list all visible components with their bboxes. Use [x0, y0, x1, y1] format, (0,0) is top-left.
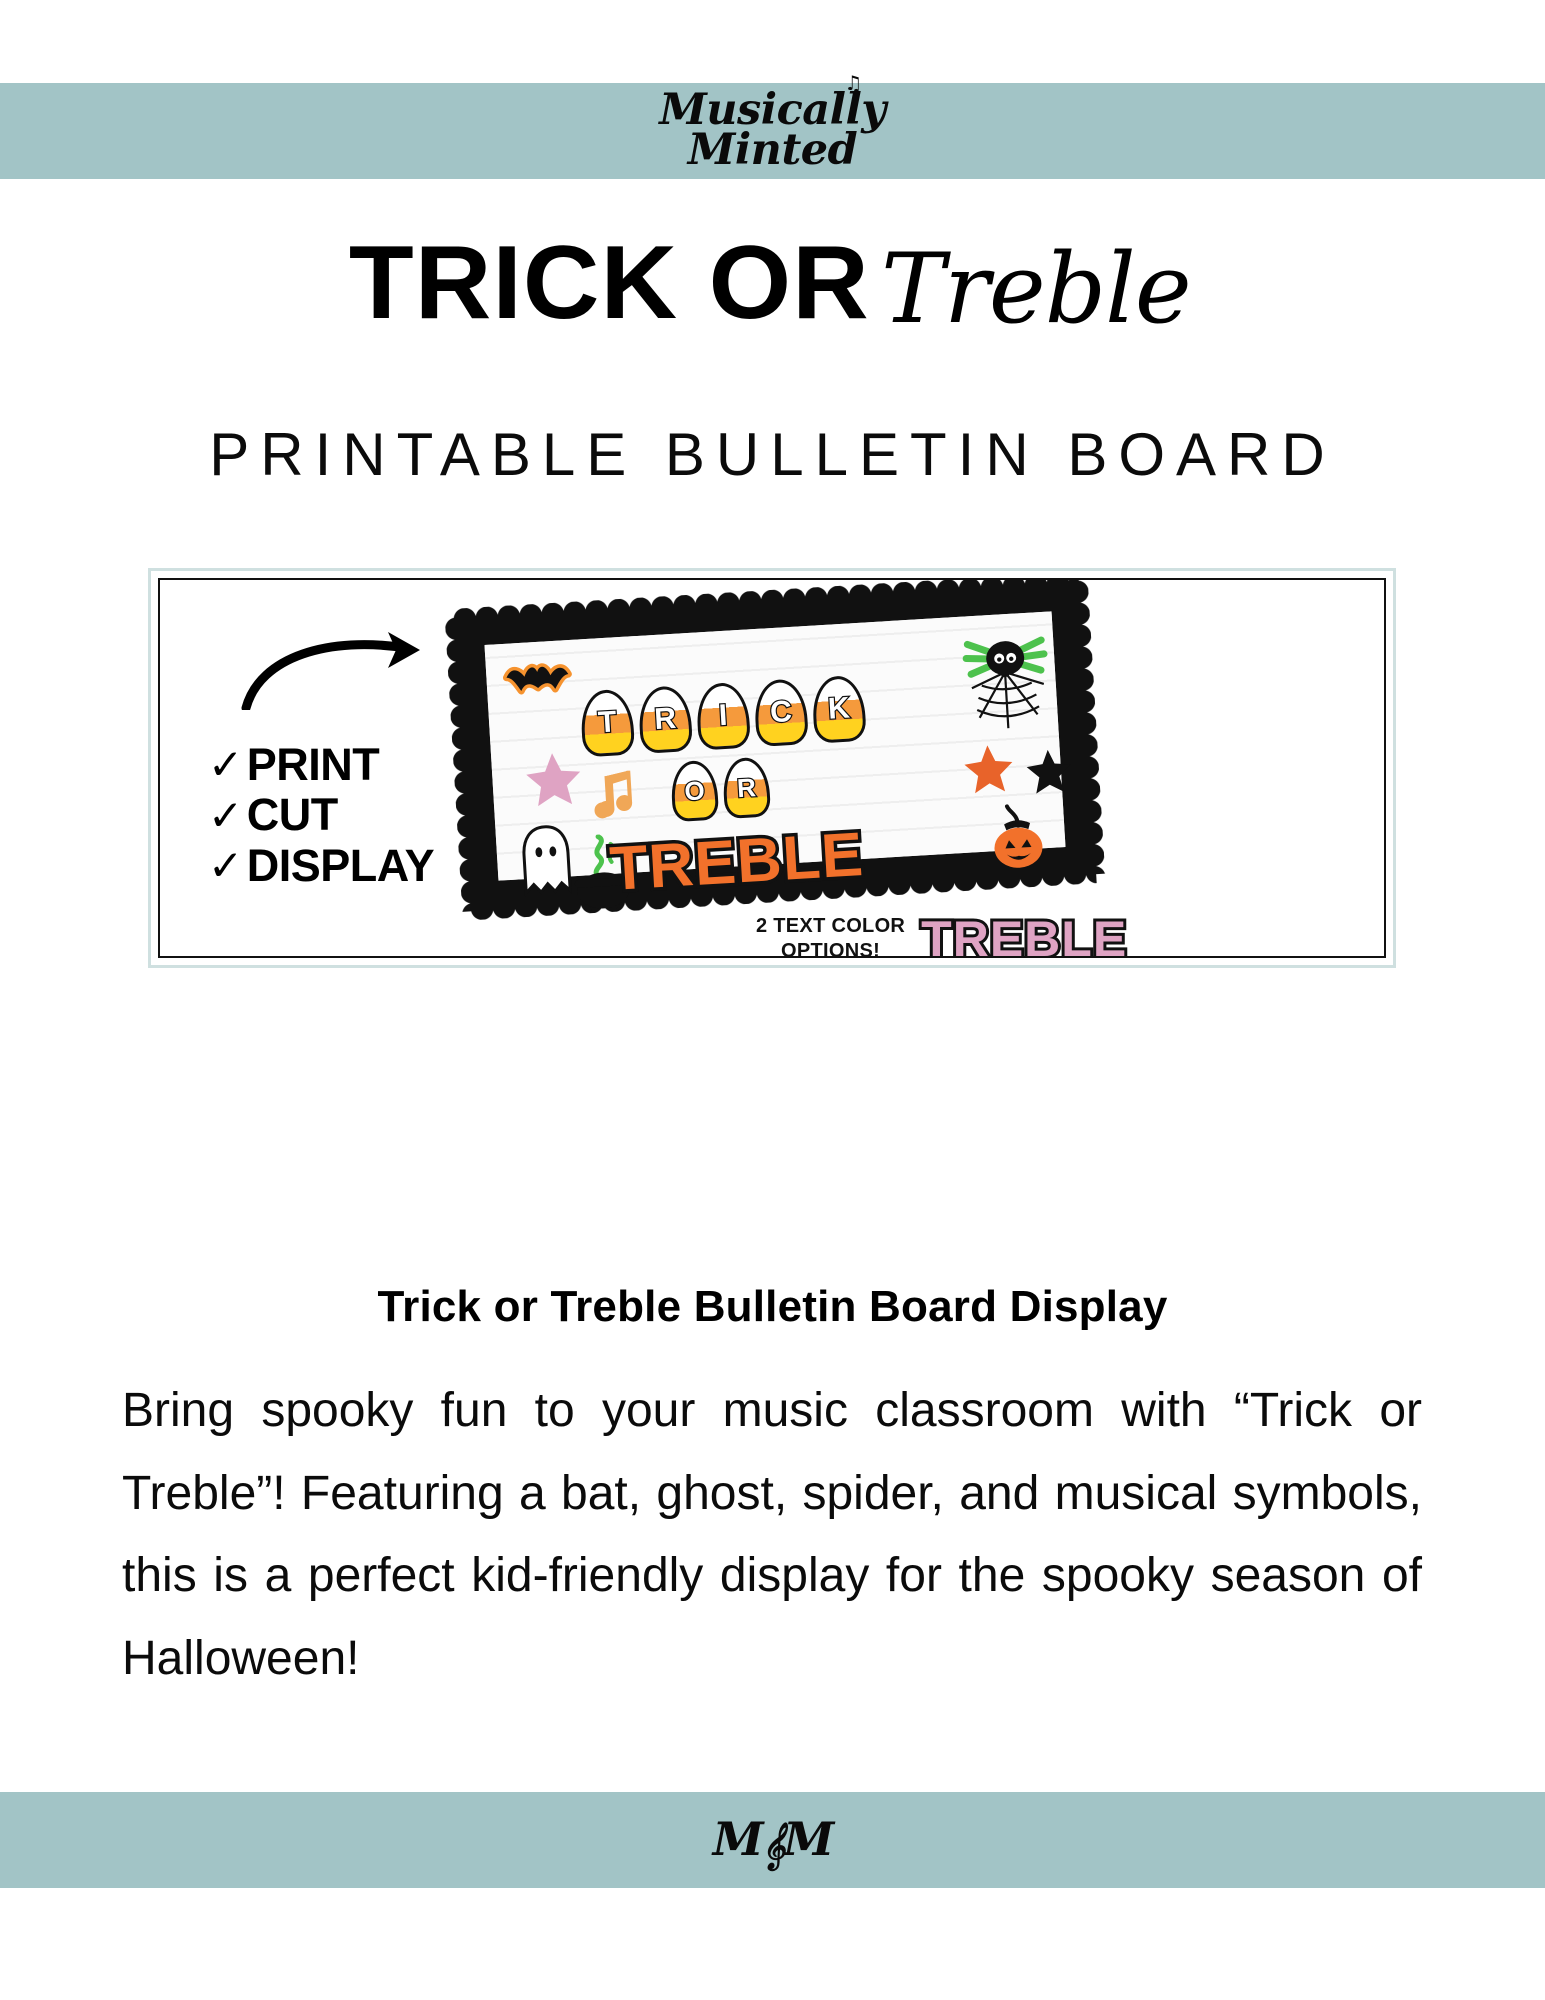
music-note-icon	[588, 768, 637, 826]
board-word-trick: T R I C K	[579, 675, 866, 758]
spider-web-icon	[954, 621, 1057, 741]
candy-corn-letter: O	[670, 760, 719, 823]
brand-logo: Musically ♫ Minted	[659, 91, 886, 170]
color-options-label-line2: OPTIONS!	[756, 939, 905, 958]
color-options-label-line1: 2 TEXT COLOR	[756, 914, 905, 939]
checklist-label-print: PRINT	[247, 740, 380, 790]
list-item: ✓ CUT	[208, 790, 434, 840]
pink-star-icon	[523, 750, 585, 814]
candy-corn-letter: R	[637, 685, 693, 754]
check-icon: ✓	[208, 744, 243, 786]
treble-clef-icon: 𝄞	[762, 1822, 784, 1869]
footer-monogram: M𝄞M	[713, 1812, 832, 1869]
orange-star-icon	[961, 742, 1016, 800]
candy-corn-letter: K	[811, 675, 867, 744]
color-options-label: 2 TEXT COLOR OPTIONS!	[756, 914, 905, 958]
page-title: TRICK OR Treble	[0, 224, 1545, 343]
list-item: ✓ DISPLAY	[208, 841, 434, 891]
bottom-brand-band: M𝄞M	[0, 1792, 1545, 1888]
checklist-label-display: DISPLAY	[247, 841, 434, 891]
candy-corn-letter: R	[722, 756, 771, 819]
black-star-icon	[1024, 746, 1075, 800]
pumpkin-icon	[987, 802, 1049, 876]
bulletin-board-mockup: T R I C K O R TREBLE	[457, 584, 1093, 908]
description-body: Bring spooky fun to your music classroom…	[122, 1370, 1422, 1700]
brand-logo-line2-text: Minted	[659, 131, 886, 171]
curved-arrow-icon	[238, 630, 438, 710]
color-options-callout: 2 TEXT COLOR OPTIONS! TREBLE	[756, 910, 1127, 958]
color-options-sample-word: TREBLE	[921, 910, 1127, 958]
title-bold-part: TRICK OR	[349, 224, 870, 343]
check-icon: ✓	[208, 795, 243, 837]
preview-frame: ✓ PRINT ✓ CUT ✓ DISPLAY	[148, 568, 1396, 968]
candy-corn-letter: C	[753, 678, 809, 747]
checklist-label-cut: CUT	[247, 790, 338, 840]
board-word-treble: TREBLE	[608, 819, 866, 905]
candy-corn-letter: I	[695, 682, 751, 751]
description-title: Trick or Treble Bulletin Board Display	[0, 1282, 1545, 1332]
list-item: ✓ PRINT	[208, 740, 434, 790]
page-subtitle: PRINTABLE BULLETIN BOARD	[0, 420, 1545, 489]
brand-logo-line1: Musically ♫	[659, 91, 886, 131]
candy-corn-letter: T	[579, 688, 635, 757]
ghost-icon	[517, 822, 576, 904]
board-shiplap-background: T R I C K O R TREBLE	[485, 611, 1066, 880]
board-word-or: O R	[670, 756, 771, 822]
preview-canvas: ✓ PRINT ✓ CUT ✓ DISPLAY	[158, 578, 1386, 958]
top-brand-band: Musically ♫ Minted	[0, 83, 1545, 179]
music-note-icon: ♫	[844, 74, 861, 92]
footer-monogram-left: M	[713, 1812, 762, 1866]
bat-icon	[502, 658, 575, 707]
product-page: Musically ♫ Minted TRICK OR Treble PRINT…	[0, 0, 1545, 2000]
footer-monogram-right: M	[783, 1812, 832, 1866]
title-script-part: Treble	[881, 233, 1191, 345]
check-icon: ✓	[208, 845, 243, 887]
checklist: ✓ PRINT ✓ CUT ✓ DISPLAY	[208, 740, 434, 891]
